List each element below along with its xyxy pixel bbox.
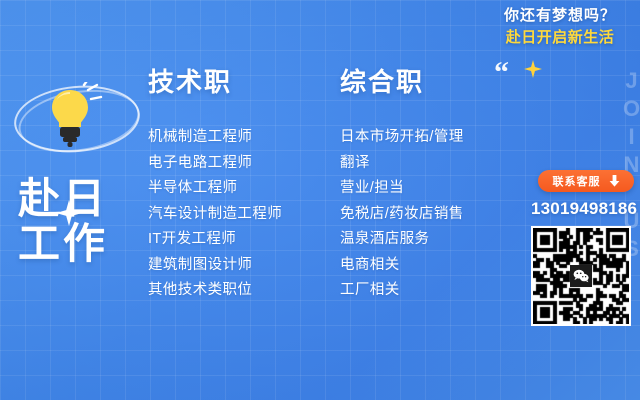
brand-line-2: 工作 (18, 221, 150, 266)
phone-number[interactable]: 13019498186 (531, 199, 635, 219)
list-item: 电商相关 (340, 253, 464, 279)
list-item: 工厂相关 (340, 278, 464, 304)
lightbulb-icon (44, 82, 104, 148)
list-item: 温泉酒店服务 (340, 227, 464, 253)
quote-mark-icon: “ (494, 58, 508, 88)
brand-block: 赴日 工作 (0, 80, 150, 266)
job-column-technical: 技术职 机械制造工程师 电子电路工程师 半导体工程师 汽车设计制造工程师 IT开… (148, 62, 282, 304)
job-column-general: 综合职 日本市场开拓/管理 翻译 营业/担当 免税店/药妆店销售 温泉酒店服务 … (340, 62, 464, 304)
sparkle-icon (56, 200, 82, 226)
job-list-technical: 机械制造工程师 电子电路工程师 半导体工程师 汽车设计制造工程师 IT开发工程师… (148, 125, 282, 304)
list-item: 半导体工程师 (148, 176, 282, 202)
column-heading-technical: 技术职 (148, 62, 282, 99)
headline-line-2: 赴日开启新生活 (490, 28, 630, 48)
job-list-general: 日本市场开拓/管理 翻译 营业/担当 免税店/药妆店销售 温泉酒店服务 电商相关… (340, 125, 464, 304)
list-item: 营业/担当 (340, 176, 464, 202)
column-heading-general: 综合职 (340, 62, 464, 99)
list-item: 建筑制图设计师 (148, 253, 282, 279)
contact-support-button[interactable]: 联系客服 (538, 170, 634, 192)
contact-block: 联系客服 13019498186 (531, 170, 635, 326)
list-item: 机械制造工程师 (148, 125, 282, 151)
list-item: 电子电路工程师 (148, 151, 282, 177)
list-item: 翻译 (340, 151, 464, 177)
arrow-down-icon (609, 175, 620, 187)
list-item: 免税店/药妆店销售 (340, 202, 464, 228)
brand-line-1: 赴日 (18, 176, 150, 221)
qr-code[interactable] (531, 226, 631, 326)
headline-block: 你还有梦想吗？ 赴日开启新生活 (490, 6, 630, 48)
list-item: 日本市场开拓/管理 (340, 125, 464, 151)
lightbulb-badge (8, 80, 148, 170)
poster-canvas: JOIN US 你还有梦想吗？ 赴日开启新生活 “ (0, 0, 640, 400)
wechat-icon (570, 265, 592, 287)
list-item: 其他技术类职位 (148, 278, 282, 304)
list-item: IT开发工程师 (148, 227, 282, 253)
headline-line-1: 你还有梦想吗？ (490, 6, 630, 25)
sparkle-icon (524, 60, 542, 78)
contact-button-label: 联系客服 (553, 173, 601, 189)
list-item: 汽车设计制造工程师 (148, 202, 282, 228)
